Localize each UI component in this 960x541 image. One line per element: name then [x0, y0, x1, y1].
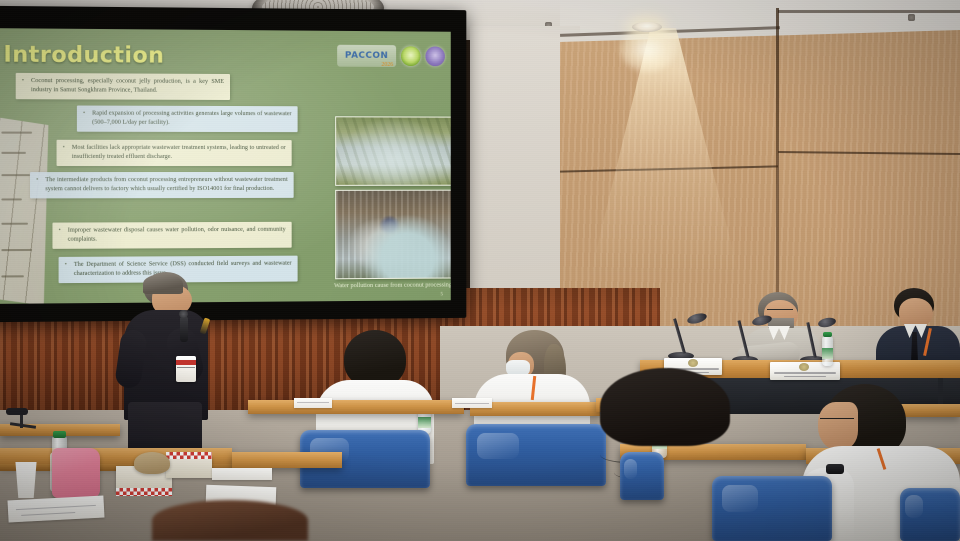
equipment-head	[6, 408, 28, 415]
slide-page-number: 5	[441, 292, 443, 297]
slide-title: Introduction	[3, 42, 164, 68]
bullet-text: Most facilities lack appropriate wastewa…	[72, 144, 286, 162]
paccon-logo-year: 2026	[381, 62, 393, 68]
bullet-text: Coconut processing, especially coconut j…	[31, 77, 224, 96]
attendee-face	[818, 402, 858, 450]
pink-gift-bag	[52, 448, 100, 498]
snack-box	[166, 456, 212, 478]
badge-colour-band	[176, 360, 196, 365]
slide-bullet-box: •The intermediate products from coconut …	[30, 172, 294, 199]
presenter-name-badge	[176, 356, 196, 382]
document-paper	[212, 468, 272, 480]
audience-table-row-1	[248, 400, 464, 414]
slide-bullet-box: •Improper wastewater disposal causes wat…	[52, 222, 291, 249]
presenter	[118, 272, 234, 472]
bullet-text: Rapid expansion of processing activities…	[92, 110, 292, 129]
blue-chair	[466, 424, 606, 486]
spotlight-hotspot	[620, 26, 676, 72]
document-paper	[294, 398, 332, 408]
water-bottle	[822, 336, 833, 366]
conference-photo-scene: Introduction PACCON 2026	[0, 0, 960, 541]
attendee-back-of-head-center	[600, 368, 730, 446]
bullet-text: The intermediate products from coconut p…	[45, 176, 287, 195]
document-paper	[452, 398, 492, 408]
handheld-microphone[interactable]	[180, 316, 188, 342]
bottle-label	[822, 348, 833, 359]
blue-chair	[900, 488, 960, 541]
presenter-hair-top	[143, 274, 183, 294]
ceiling-sprinkler-icon	[908, 14, 915, 21]
green-ring-logo	[401, 46, 421, 66]
purple-seal-logo	[425, 46, 444, 66]
slide-bullet-box: •Rapid expansion of processing activitie…	[77, 105, 298, 132]
placard-seal-icon	[799, 363, 809, 371]
audience-table-foreground-b	[232, 452, 342, 468]
attendee-foreground-bottom	[152, 500, 308, 541]
slide-photo-caption: Water pollution cause from coconut proce…	[331, 280, 451, 290]
bullet-glyph: •	[83, 110, 90, 128]
slide-photo-coconut-processing	[335, 190, 451, 280]
projection-screen: Introduction PACCON 2026	[0, 28, 451, 304]
panelist-right-face	[899, 298, 933, 328]
microphone-head-icon	[179, 310, 188, 318]
glasses-icon	[767, 309, 793, 314]
bullet-glyph: •	[65, 261, 72, 279]
bottle-cap	[53, 431, 66, 438]
blue-chair	[620, 452, 664, 500]
slide-bullet-box: •Most facilities lack appropriate wastew…	[57, 140, 292, 167]
bullet-glyph: •	[63, 144, 70, 162]
handwriting-texture-decoration	[0, 117, 48, 304]
slide-photo-polluted-pond	[335, 116, 451, 186]
paccon-logo: PACCON 2026	[337, 45, 396, 67]
snack-box-check-pattern	[116, 488, 172, 496]
bullet-glyph: •	[59, 227, 66, 245]
glasses-icon	[820, 418, 854, 423]
badge-text-lines	[177, 367, 195, 370]
snack-box-check-pattern	[166, 452, 212, 459]
recessed-spotlight-icon	[632, 22, 662, 32]
bullet-text: Improper wastewater disposal causes wate…	[68, 226, 286, 245]
paccon-logo-text: PACCON	[345, 51, 388, 61]
blue-chair	[712, 476, 832, 541]
bottle-label	[418, 417, 431, 427]
placard-seal-icon	[688, 359, 698, 367]
slide-logo-group: PACCON 2026	[337, 45, 445, 67]
wristwatch-icon	[826, 464, 844, 474]
bullet-glyph: •	[36, 176, 43, 194]
presentation-slide: Introduction PACCON 2026	[0, 28, 451, 304]
wall-top-trim	[778, 10, 960, 13]
bullet-glyph: •	[22, 77, 29, 96]
bottle-cap	[823, 332, 832, 337]
bread-roll	[134, 452, 170, 474]
slide-bullet-box: •Coconut processing, especially coconut …	[16, 73, 230, 100]
